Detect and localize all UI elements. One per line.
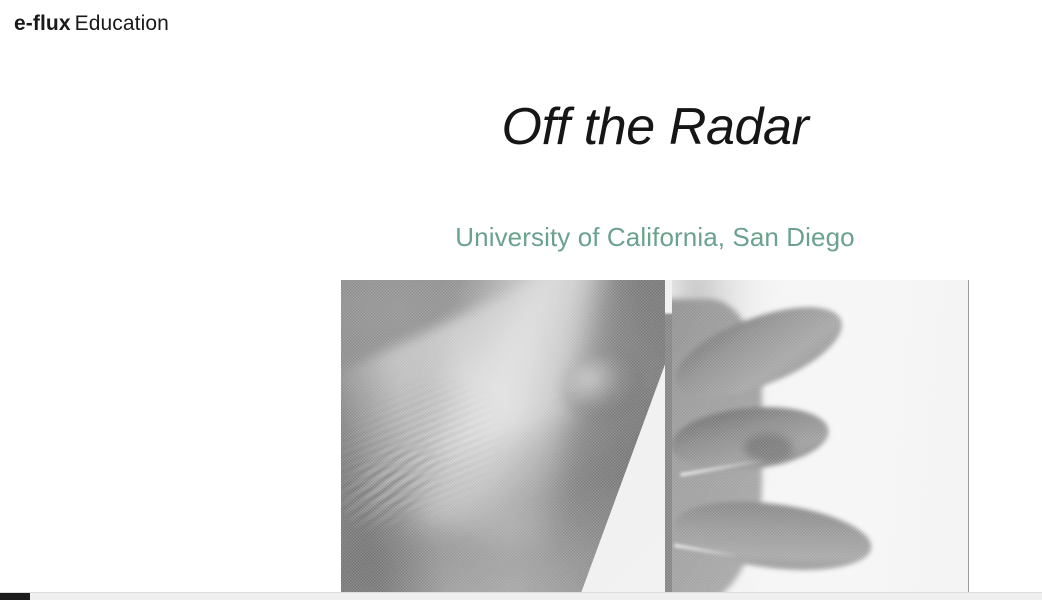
finger-shadow-spot (744, 434, 793, 463)
site-section[interactable]: Education (75, 12, 169, 35)
site-brand[interactable]: e-flux (14, 12, 71, 35)
site-masthead[interactable]: e-fluxEducation (14, 10, 169, 38)
hero-panel-right (665, 280, 969, 600)
page-title: Off the Radar (341, 96, 969, 158)
horizontal-scrollbar[interactable] (0, 592, 1042, 600)
article-institution[interactable]: University of California, San Diego (341, 220, 969, 254)
figure-right-rule (968, 280, 969, 600)
hero-panel-left (341, 280, 665, 600)
panel-seam-strip (665, 280, 672, 600)
article-container: Off the Radar University of California, … (341, 0, 969, 600)
page-root: e-fluxEducation Off the Radar University… (0, 0, 1042, 600)
hero-photograph[interactable] (341, 280, 969, 600)
horizontal-scroll-thumb[interactable] (0, 593, 30, 600)
